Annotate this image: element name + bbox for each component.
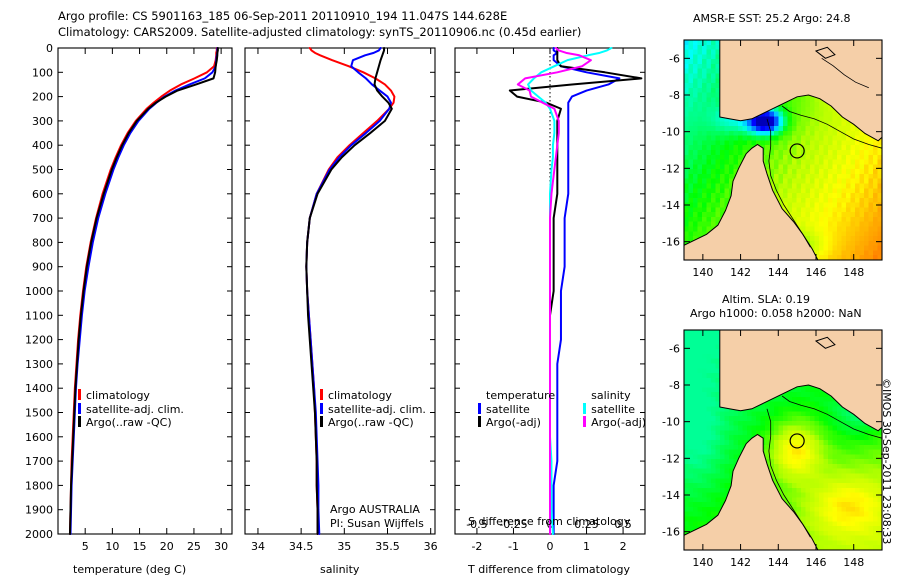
svg-text:0: 0 [547, 540, 554, 553]
legend-item-argo-raw-sal: Argo(..raw -QC) [320, 416, 426, 430]
svg-text:144: 144 [768, 556, 789, 569]
salinity-axis-label: salinity [320, 563, 359, 576]
panel-temperature: 0100200300400500600700800900100011001200… [0, 0, 240, 580]
svg-text:1: 1 [583, 540, 590, 553]
legend-item-climatology: climatology [78, 389, 184, 403]
legend-item-satellite-adj-sal: satellite-adj. clim. [320, 403, 426, 417]
svg-text:-12: -12 [662, 452, 680, 465]
sst-map-title: AMSR-E SST: 25.2 Argo: 24.8 [693, 12, 851, 25]
legend-item-temp-satellite: satellite [478, 403, 555, 417]
svg-text:-1: -1 [508, 540, 519, 553]
legend-swatch-climatology-sal [320, 389, 323, 400]
svg-text:1900: 1900 [25, 504, 53, 517]
svg-text:35.5: 35.5 [375, 540, 400, 553]
svg-text:-6: -6 [669, 342, 680, 355]
svg-text:5: 5 [82, 540, 89, 553]
svg-text:1200: 1200 [25, 334, 53, 347]
svg-text:-8: -8 [669, 89, 680, 102]
svg-text:140: 140 [692, 266, 713, 279]
difference-legend-temperature-col: temperature satellite Argo(-adj) [478, 389, 555, 430]
svg-text:-14: -14 [662, 199, 680, 212]
svg-text:-12: -12 [662, 162, 680, 175]
panel-salinity: 3434.53535.536 [240, 0, 450, 580]
legend-swatch-temp-argo-adj [478, 416, 481, 427]
svg-text:1400: 1400 [25, 382, 53, 395]
svg-text:1500: 1500 [25, 407, 53, 420]
svg-text:34.5: 34.5 [289, 540, 314, 553]
svg-text:148: 148 [843, 266, 864, 279]
svg-text:2000: 2000 [25, 528, 53, 541]
temperature-axis-label: temperature (deg C) [73, 563, 186, 576]
argo-pi-label: PI: Susan Wijffels [330, 517, 424, 530]
svg-text:-6: -6 [669, 52, 680, 65]
svg-text:100: 100 [32, 66, 53, 79]
svg-text:144: 144 [768, 266, 789, 279]
legend-swatch-sal-satellite [583, 403, 586, 414]
svg-text:200: 200 [32, 91, 53, 104]
svg-text:-8: -8 [669, 379, 680, 392]
svg-text:800: 800 [32, 236, 53, 249]
legend-swatch-sal-argo-adj [583, 416, 586, 427]
svg-text:20: 20 [160, 540, 174, 553]
panel-difference: -2-1012-0.5-0.2500.250.5 [450, 0, 660, 580]
legend-item-sal-argo-adj: Argo(-adj) [583, 416, 646, 430]
svg-text:30: 30 [214, 540, 228, 553]
svg-text:15: 15 [133, 540, 147, 553]
svg-text:146: 146 [806, 556, 827, 569]
svg-text:142: 142 [730, 556, 751, 569]
svg-text:146: 146 [806, 266, 827, 279]
legend-item-satellite-adj: satellite-adj. clim. [78, 403, 184, 417]
svg-text:1000: 1000 [25, 285, 53, 298]
svg-text:1300: 1300 [25, 358, 53, 371]
svg-text:2: 2 [620, 540, 627, 553]
svg-text:25: 25 [187, 540, 201, 553]
svg-text:900: 900 [32, 261, 53, 274]
svg-text:-16: -16 [662, 236, 680, 249]
svg-text:148: 148 [843, 556, 864, 569]
imos-credit: ©IMOS 30-Sep-2011 23:08:33 [893, 378, 900, 391]
svg-text:700: 700 [32, 212, 53, 225]
legend-swatch-argo-raw [78, 416, 81, 427]
legend-header-salinity: salinity [591, 389, 646, 403]
legend-swatch-argo-raw-sal [320, 416, 323, 427]
svg-text:1700: 1700 [25, 455, 53, 468]
svg-text:35: 35 [337, 540, 351, 553]
legend-swatch-climatology [78, 389, 81, 400]
legend-item-climatology-sal: climatology [320, 389, 426, 403]
map-sla: 140142144146148-6-8-10-12-14-16 [660, 322, 900, 572]
legend-header-temperature: temperature [486, 389, 555, 403]
temperature-legend: climatology satellite-adj. clim. Argo(..… [78, 389, 184, 430]
svg-text:142: 142 [730, 266, 751, 279]
legend-swatch-temp-satellite [478, 403, 481, 414]
svg-text:34: 34 [251, 540, 265, 553]
legend-item-argo-raw: Argo(..raw -QC) [78, 416, 184, 430]
difference-legend: temperature satellite Argo(-adj) salinit… [478, 389, 646, 430]
svg-text:-16: -16 [662, 526, 680, 539]
svg-text:140: 140 [692, 556, 713, 569]
svg-text:10: 10 [105, 540, 119, 553]
svg-text:36: 36 [424, 540, 438, 553]
sla-map-title-line1: Altim. SLA: 0.19 [722, 293, 810, 306]
svg-text:-14: -14 [662, 489, 680, 502]
legend-item-sal-satellite: satellite [583, 403, 646, 417]
legend-swatch-satellite-adj-sal [320, 403, 323, 414]
svg-text:1800: 1800 [25, 479, 53, 492]
svg-text:300: 300 [32, 115, 53, 128]
map-sst: 140142144146148-6-8-10-12-14-16 [660, 32, 900, 287]
svg-text:600: 600 [32, 188, 53, 201]
svg-text:1600: 1600 [25, 431, 53, 444]
svg-text:1100: 1100 [25, 309, 53, 322]
svg-text:-10: -10 [662, 126, 680, 139]
difference-legend-salinity-col: salinity satellite Argo(-adj) [583, 389, 646, 430]
legend-item-temp-argo-adj: Argo(-adj) [478, 416, 555, 430]
difference-axis-label-top: S difference from climatology [468, 515, 630, 528]
argo-australia-label: Argo AUSTRALIA [330, 503, 420, 516]
difference-axis-label-bottom: T difference from climatology [468, 563, 630, 576]
svg-text:0: 0 [46, 42, 53, 55]
legend-swatch-satellite-adj [78, 403, 81, 414]
svg-text:-10: -10 [662, 416, 680, 429]
svg-text:400: 400 [32, 139, 53, 152]
sla-map-title-line2: Argo h1000: 0.058 h2000: NaN [690, 307, 862, 320]
svg-text:-2: -2 [471, 540, 482, 553]
salinity-legend: climatology satellite-adj. clim. Argo(..… [320, 389, 426, 430]
svg-text:500: 500 [32, 164, 53, 177]
